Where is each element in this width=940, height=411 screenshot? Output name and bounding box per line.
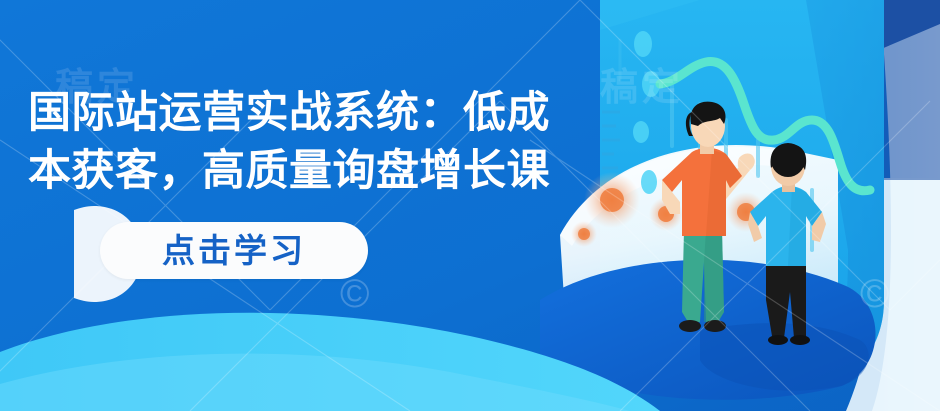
click-to-learn-button[interactable]: 点击学习 bbox=[100, 222, 368, 279]
banner-title: 国际站运营实战系统：低成 本获客，高质量询盘增长课 bbox=[28, 84, 628, 200]
pants-shadow bbox=[704, 230, 724, 322]
banner-illustration bbox=[0, 0, 940, 411]
bubble-icon bbox=[641, 170, 657, 194]
bubble-icon bbox=[634, 31, 652, 57]
title-line-2: 本获客，高质量询盘增长课 bbox=[28, 142, 628, 200]
shoe bbox=[768, 335, 788, 345]
shoe bbox=[679, 320, 701, 332]
hair-back bbox=[771, 143, 805, 177]
shoe bbox=[704, 320, 726, 332]
course-promo-banner: 稿定 稿定 © © 国际站运营实战系统：低成 本获客，高质量询盘增长课 点击学习 bbox=[0, 0, 940, 411]
cta-button-label: 点击学习 bbox=[162, 234, 306, 267]
shoe bbox=[790, 335, 810, 345]
glow-dot-core-icon bbox=[578, 228, 590, 240]
bubble-icon bbox=[633, 121, 649, 143]
title-line-1: 国际站运营实战系统：低成 bbox=[28, 84, 628, 142]
